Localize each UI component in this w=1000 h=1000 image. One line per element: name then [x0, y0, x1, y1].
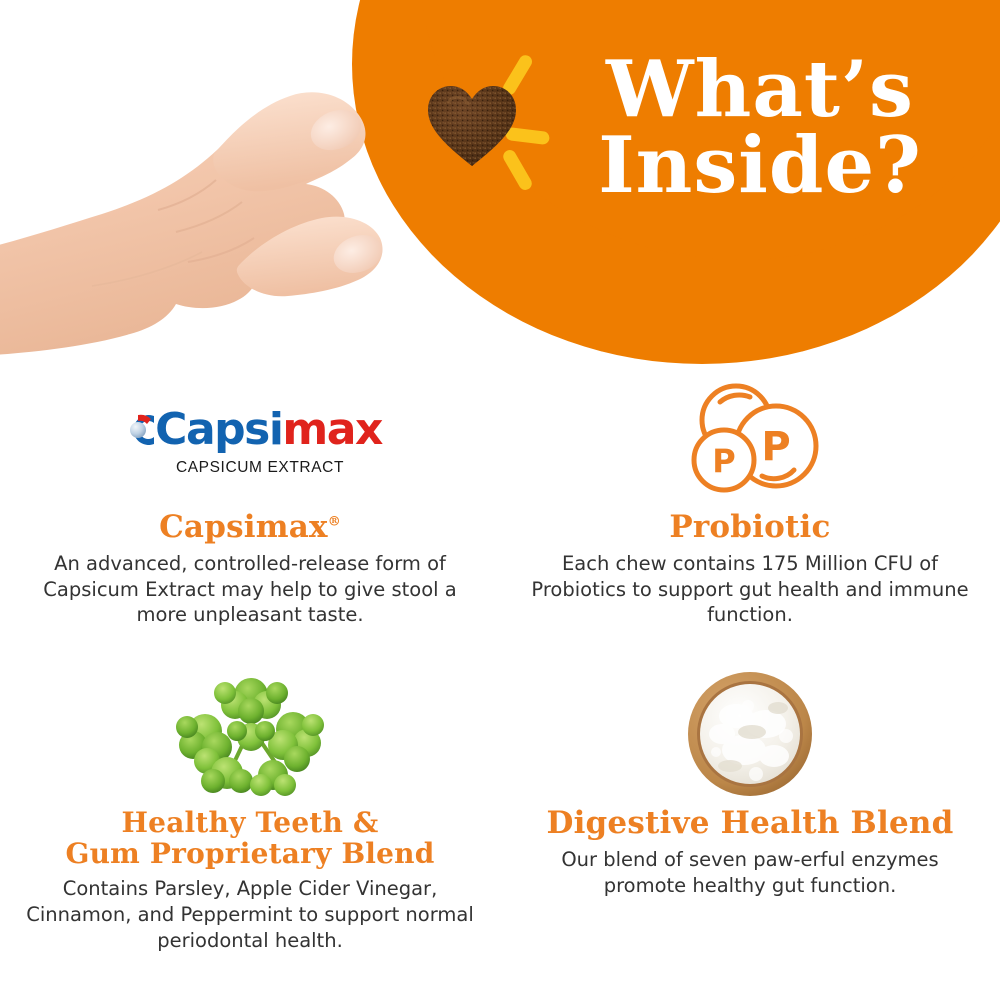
- capsimax-c-mark-icon: [118, 408, 158, 452]
- card-title-line2: Gum Proprietary Blend: [65, 837, 434, 870]
- probiotic-letter-small: P: [712, 442, 735, 480]
- ingredient-grid: Capsi max CAPSICUM EXTRACT Capsimax® An …: [0, 376, 1000, 954]
- card-title-digestive-health: Digestive Health Blend: [522, 808, 978, 840]
- card-digestive-health: Digestive Health Blend Our blend of seve…: [500, 664, 1000, 953]
- card-title-healthy-teeth-gum: Healthy Teeth & Gum Proprietary Blend: [22, 808, 478, 868]
- page-title: What’s Inside?: [560, 52, 960, 205]
- powder-bowl-visual: [522, 664, 978, 804]
- card-capsimax: Capsi max CAPSICUM EXTRACT Capsimax® An …: [0, 376, 500, 628]
- capsimax-wordmark-part2: max: [282, 408, 381, 452]
- ingredient-row-2: Healthy Teeth & Gum Proprietary Blend Co…: [0, 664, 1000, 953]
- capsimax-logo-visual: Capsi max CAPSICUM EXTRACT: [22, 376, 478, 508]
- heart-treat-icon: [424, 82, 520, 170]
- card-title-line1: Healthy Teeth &: [122, 806, 379, 839]
- page-title-line2: Inside?: [560, 128, 960, 204]
- card-body-capsimax: An advanced, controlled-release form of …: [22, 551, 478, 629]
- registered-trademark-symbol: ®: [328, 515, 341, 530]
- card-healthy-teeth-gum: Healthy Teeth & Gum Proprietary Blend Co…: [0, 664, 500, 953]
- probiotic-letter-large: P: [761, 424, 790, 470]
- capsimax-wordmark-part1: Capsi: [155, 408, 282, 452]
- probiotic-circles-icon: P P: [680, 380, 820, 504]
- parsley-sprig-image: [165, 665, 335, 803]
- card-title-probiotic: Probiotic: [522, 512, 978, 544]
- capsimax-wordmark: Capsi max: [118, 408, 382, 452]
- parsley-visual: [22, 664, 478, 804]
- probiotic-icon-visual: P P: [522, 376, 978, 508]
- card-probiotic: P P Probiotic Each chew contains 175 Mil…: [500, 376, 1000, 628]
- capsimax-logo: Capsi max CAPSICUM EXTRACT: [118, 408, 382, 477]
- infographic-canvas: What’s Inside?: [0, 0, 1000, 1000]
- powder-bowl-image: [686, 670, 814, 798]
- capsimax-subtitle: CAPSICUM EXTRACT: [176, 459, 344, 477]
- card-body-probiotic: Each chew contains 175 Million CFU of Pr…: [522, 551, 978, 629]
- card-body-healthy-teeth-gum: Contains Parsley, Apple Cider Vinegar, C…: [22, 876, 478, 954]
- hand-holding-treat-image: [0, 18, 432, 372]
- hero-section: What’s Inside?: [0, 0, 1000, 372]
- card-title-capsimax: Capsimax®: [22, 512, 478, 544]
- card-body-digestive-health: Our blend of seven paw-erful enzymes pro…: [522, 847, 978, 899]
- ingredient-row-1: Capsi max CAPSICUM EXTRACT Capsimax® An …: [0, 376, 1000, 628]
